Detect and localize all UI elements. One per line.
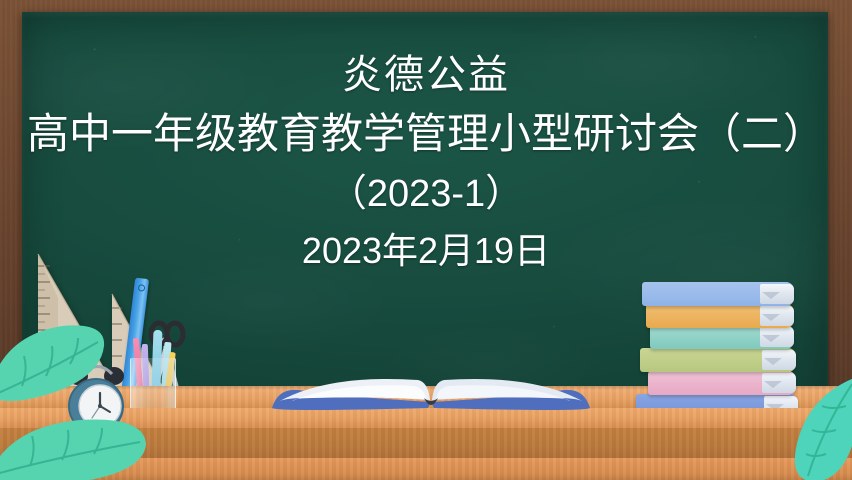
leaf-icon: [0, 320, 110, 406]
organization-line: 炎德公益: [0, 48, 852, 102]
list-item: [648, 371, 796, 395]
book-pages: [760, 306, 794, 326]
book-pages: [760, 327, 794, 347]
book-pages: [762, 350, 796, 370]
list-item: [640, 348, 796, 372]
open-book-icon: [268, 368, 594, 414]
book-stack: [636, 278, 804, 418]
session-code-line: （2023-1）: [0, 165, 852, 224]
leaf-icon: [0, 404, 150, 480]
book-pages: [760, 284, 794, 304]
page-title: 高中一年级教育教学管理小型研讨会（二）: [0, 102, 852, 165]
date-line: 2023年2月19日: [0, 224, 852, 278]
leaf-icon: [788, 376, 852, 480]
blackboard-text-block: 炎德公益 高中一年级教育教学管理小型研讨会（二） （2023-1） 2023年2…: [0, 48, 852, 278]
list-item: [646, 304, 794, 328]
list-item: [642, 282, 794, 306]
slide-canvas: 炎德公益 高中一年级教育教学管理小型研讨会（二） （2023-1） 2023年2…: [0, 0, 852, 480]
list-item: [650, 325, 794, 349]
